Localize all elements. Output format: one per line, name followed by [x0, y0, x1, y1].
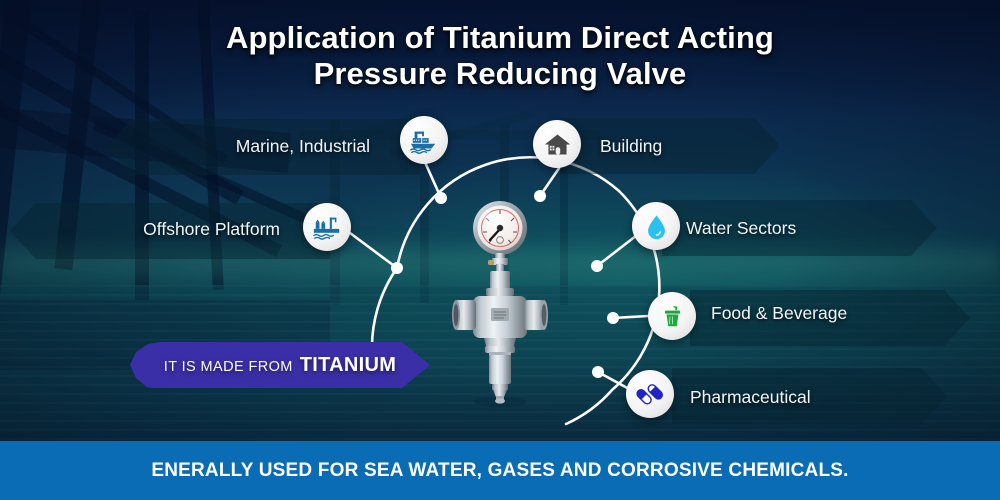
titanium-badge-text: IT IS MADE FROMTITANIUM: [164, 354, 396, 377]
application-label-food: Food & Beverage: [711, 305, 961, 323]
title-line-1: Application of Titanium Direct Acting: [226, 20, 774, 55]
application-label-water: Water Sectors: [686, 220, 916, 238]
application-label-marine: Marine, Industrial: [150, 138, 370, 156]
water-drop-icon[interactable]: [632, 202, 680, 250]
title-line-2: Pressure Reducing Valve: [0, 56, 1000, 92]
house-icon[interactable]: [533, 120, 581, 168]
bottom-banner-text: ENERALLY USED FOR SEA WATER, GASES AND C…: [151, 460, 848, 482]
application-label-building: Building: [600, 138, 800, 156]
infographic-banner: Application of Titanium Direct Acting Pr…: [0, 0, 1000, 500]
ship-icon[interactable]: [400, 116, 448, 164]
pressure-gauge: [473, 201, 527, 255]
oil-rig-icon[interactable]: [303, 203, 351, 251]
badge-material: TITANIUM: [300, 354, 396, 376]
badge-prefix: IT IS MADE FROM: [164, 359, 293, 375]
application-label-pharma: Pharmaceutical: [690, 389, 940, 407]
application-label-offshore: Offshore Platform: [55, 221, 280, 239]
beverage-cup-icon[interactable]: [648, 292, 696, 340]
titanium-badge: IT IS MADE FROMTITANIUM: [130, 342, 430, 388]
page-title: Application of Titanium Direct Acting Pr…: [0, 20, 1000, 92]
pill-capsules-icon[interactable]: [626, 370, 674, 418]
product-image-pressure-reducing-valve: [440, 196, 560, 411]
bottom-banner: ENERALLY USED FOR SEA WATER, GASES AND C…: [0, 441, 1000, 500]
